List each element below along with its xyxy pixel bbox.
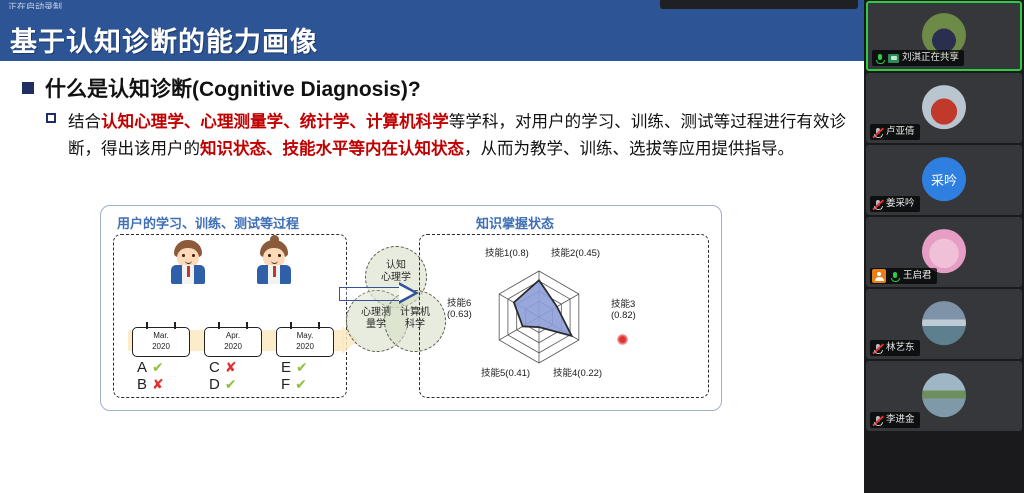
microphone-icon[interactable] (874, 53, 885, 64)
participant-tile[interactable]: 卢亚倩 (866, 73, 1022, 143)
radar-tick-label-3: 技能3(0.82) (611, 299, 636, 321)
question-result-row: D✔ (204, 376, 260, 393)
microphone-icon[interactable] (889, 271, 900, 282)
avatar (922, 229, 966, 273)
calendar-date: Mar.2020 (133, 330, 189, 352)
calendar-card: Apr.2020 (204, 327, 262, 357)
left-panel-title: 用户的学习、训练、测试等过程 (117, 213, 299, 232)
laser-pointer-dot (617, 334, 628, 345)
slide-title: 基于认知诊断的能力画像 (10, 20, 318, 59)
venn-diagram: 认知心理学 心理测量学 计算机科学 (348, 236, 426, 396)
radar-tick-label-4: 技能4(0.22) (553, 368, 602, 379)
screen-share-icon (888, 54, 899, 63)
question-label: A (137, 359, 147, 376)
participant-tile[interactable]: 采吟姜采吟 (866, 145, 1022, 215)
question-result-row: A✔ (132, 359, 188, 376)
radar-tick-label-6: 技能6(0.63) (447, 298, 472, 320)
question-label: E (281, 359, 291, 376)
paragraph-run-0: 结合 (68, 113, 101, 131)
avatar (922, 85, 966, 129)
calendar-card: Mar.2020 (132, 327, 190, 357)
participant-name: 姜采吟 (886, 198, 915, 210)
student-avatar-boy (168, 240, 208, 284)
question-label: C (209, 359, 220, 376)
participant-filmstrip[interactable]: 刘淇正在共享卢亚倩采吟姜采吟王启君林艺东李进金 (864, 0, 1024, 493)
zoom-screen-share-window: 正在启动录制... 基于认知诊断的能力画像 什么是认知诊断(Cognitive … (0, 0, 1024, 493)
question-result-row: F✔ (276, 376, 332, 393)
process-arrow-icon (339, 282, 423, 304)
shared-slide-area: 正在启动录制... 基于认知诊断的能力画像 什么是认知诊断(Cognitive … (0, 0, 864, 493)
microphone-muted-icon[interactable] (872, 199, 883, 210)
participant-name: 刘淇正在共享 (902, 52, 959, 64)
check-icon: ✔ (152, 359, 164, 376)
question-result-row: B✘ (132, 376, 188, 393)
hollow-square-bullet-icon (46, 113, 56, 123)
cross-icon: ✘ (225, 359, 237, 376)
participant-badge: 卢亚倩 (870, 124, 920, 140)
question-results: A✔B✘ (132, 359, 188, 393)
slide-heading: 什么是认知诊断(Cognitive Diagnosis)? (45, 73, 421, 103)
participant-badge: 李进金 (870, 412, 920, 428)
question-result-row: C✘ (204, 359, 260, 376)
student-avatar-girl (254, 240, 294, 284)
paragraph-run-4: ，从而为教学、训练、选拔等应用提供指导。 (464, 140, 794, 158)
microphone-muted-icon[interactable] (872, 415, 883, 426)
question-results: E✔F✔ (276, 359, 332, 393)
radar-tick-label-1: 技能1(0.8) (485, 248, 529, 259)
participant-name: 卢亚倩 (886, 126, 915, 138)
participant-tile[interactable]: 李进金 (866, 361, 1022, 431)
question-label: B (137, 376, 147, 393)
avatar (922, 301, 966, 345)
host-person-icon (872, 269, 886, 283)
participant-tile[interactable]: 王启君 (866, 217, 1022, 287)
participant-badge: 林艺东 (870, 340, 920, 356)
venn-label-cognitive-psychology: 认知心理学 (366, 260, 426, 284)
paragraph-run-1: 认知心理学、心理测量学、统计学、计算机科学 (101, 113, 449, 131)
participant-name: 林艺东 (886, 342, 915, 354)
participant-name: 李进金 (886, 414, 915, 426)
slide-body: 什么是认知诊断(Cognitive Diagnosis)? 结合认知心理学、心理… (0, 61, 864, 463)
question-results: C✘D✔ (204, 359, 260, 393)
avatar-initials: 采吟 (931, 170, 957, 189)
question-result-row: E✔ (276, 359, 332, 376)
microphone-muted-icon[interactable] (872, 127, 883, 138)
slide-paragraph-block: 结合认知心理学、心理测量学、统计学、计算机科学等学科，对用户的学习、训练、测试等… (46, 109, 846, 163)
check-icon: ✔ (295, 376, 307, 393)
skill-radar-chart: 技能1(0.8) 技能2(0.45) 技能3(0.82) 技能4(0.22) 技… (441, 242, 691, 392)
calendar-date: Apr.2020 (205, 330, 261, 352)
participant-badge: 刘淇正在共享 (872, 50, 964, 66)
square-bullet-icon (22, 82, 34, 94)
radar-tick-label-2: 技能2(0.45) (551, 248, 600, 259)
participant-tile[interactable]: 刘淇正在共享 (866, 1, 1022, 71)
check-icon: ✔ (296, 359, 308, 376)
question-label: D (209, 376, 220, 393)
radar-tick-label-5: 技能5(0.41) (481, 368, 530, 379)
right-panel-title: 知识掌握状态 (476, 213, 554, 232)
calendar-date: May.2020 (277, 330, 333, 352)
radar-series-polygon (514, 280, 572, 336)
participant-tile[interactable]: 林艺东 (866, 289, 1022, 359)
participant-badge: 姜采吟 (870, 196, 920, 212)
participant-name: 王启君 (903, 270, 932, 282)
check-icon: ✔ (225, 376, 237, 393)
cross-icon: ✘ (152, 376, 164, 393)
learning-process-box: Mar.2020A✔B✘Apr.2020C✘D✔May.2020E✔F✔ (113, 234, 347, 398)
microphone-muted-icon[interactable] (872, 343, 883, 354)
slide-paragraph: 结合认知心理学、心理测量学、统计学、计算机科学等学科，对用户的学习、训练、测试等… (68, 109, 846, 163)
slide-title-bar: 基于认知诊断的能力画像 (0, 9, 864, 61)
question-label: F (281, 376, 290, 393)
cognitive-diagnosis-diagram: 用户的学习、训练、测试等过程 知识掌握状态 (100, 205, 722, 411)
avatar: 采吟 (922, 157, 966, 201)
slide-heading-row: 什么是认知诊断(Cognitive Diagnosis)? (22, 73, 421, 103)
avatar (922, 373, 966, 417)
zoom-toolbar-tab[interactable] (660, 0, 858, 9)
paragraph-run-3: 知识状态、技能水平等内在认知状态 (200, 140, 464, 158)
participant-badge: 王启君 (870, 268, 937, 284)
calendar-card: May.2020 (276, 327, 334, 357)
